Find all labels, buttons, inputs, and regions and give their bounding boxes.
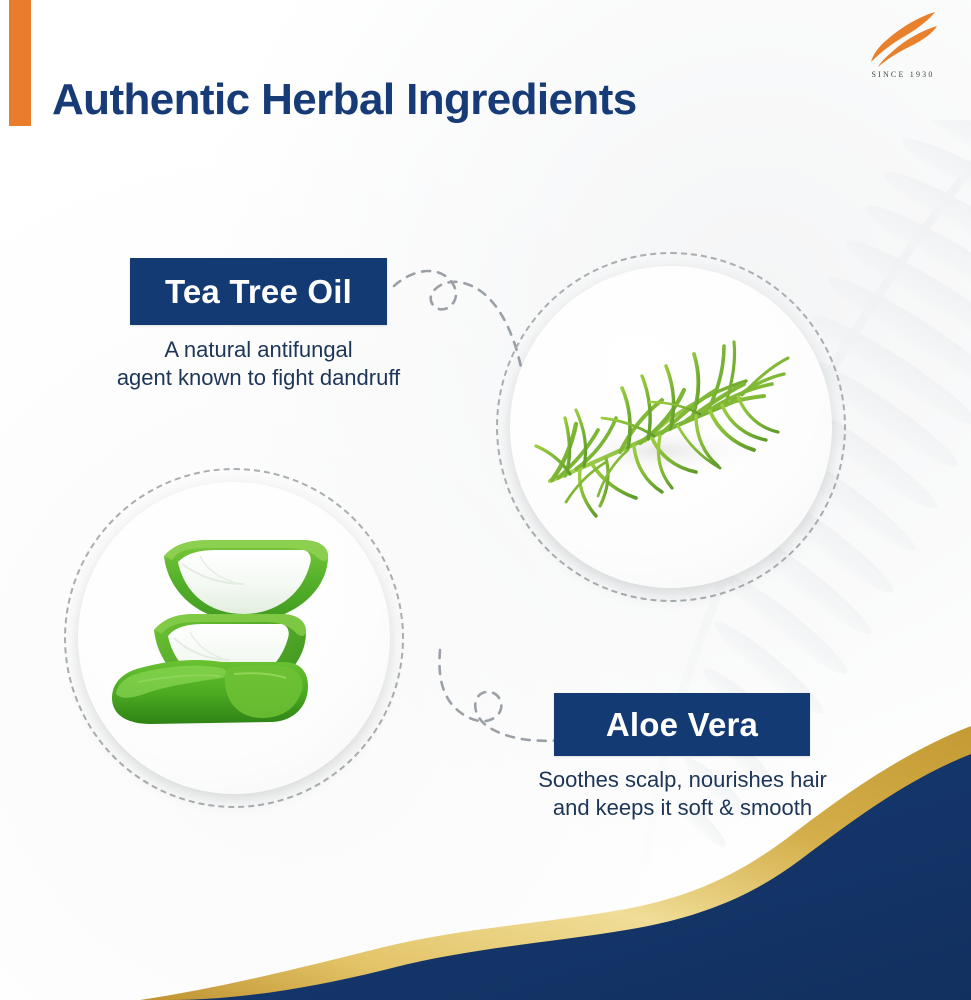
description-line-1: A natural antifungal	[66, 336, 451, 364]
label-text-aloe-vera: Aloe Vera	[606, 708, 758, 741]
photo-area-aloe	[78, 482, 390, 794]
brand-logo: SINCE 1930	[851, 10, 955, 88]
label-text-tea-tree-oil: Tea Tree Oil	[165, 275, 352, 308]
label-chip-tea-tree-oil: Tea Tree Oil	[130, 258, 387, 325]
ingredient-image-aloe-vera	[64, 468, 404, 808]
tea-tree-sprig-image	[510, 266, 800, 556]
orange-accent-bar	[9, 0, 31, 126]
description-line-2: agent known to fight dandruff	[66, 364, 451, 392]
description-aloe-vera: Soothes scalp, nourishes hair and keeps …	[495, 766, 870, 822]
description-line-2: and keeps it soft & smooth	[495, 794, 870, 822]
description-line-1: Soothes scalp, nourishes hair	[495, 766, 870, 794]
infographic-canvas: Authentic Herbal Ingredients SINCE 1930	[0, 0, 971, 1000]
flame-leaf-icon	[863, 10, 943, 68]
label-chip-aloe-vera: Aloe Vera	[554, 693, 810, 756]
description-tea-tree-oil: A natural antifungal agent known to figh…	[66, 336, 451, 392]
ingredient-image-tea-tree-oil	[496, 252, 846, 602]
page-title: Authentic Herbal Ingredients	[52, 75, 637, 125]
aloe-vera-slices-image	[78, 482, 360, 764]
photo-area-tea-tree	[510, 266, 832, 588]
logo-since-text: SINCE 1930	[851, 70, 955, 79]
